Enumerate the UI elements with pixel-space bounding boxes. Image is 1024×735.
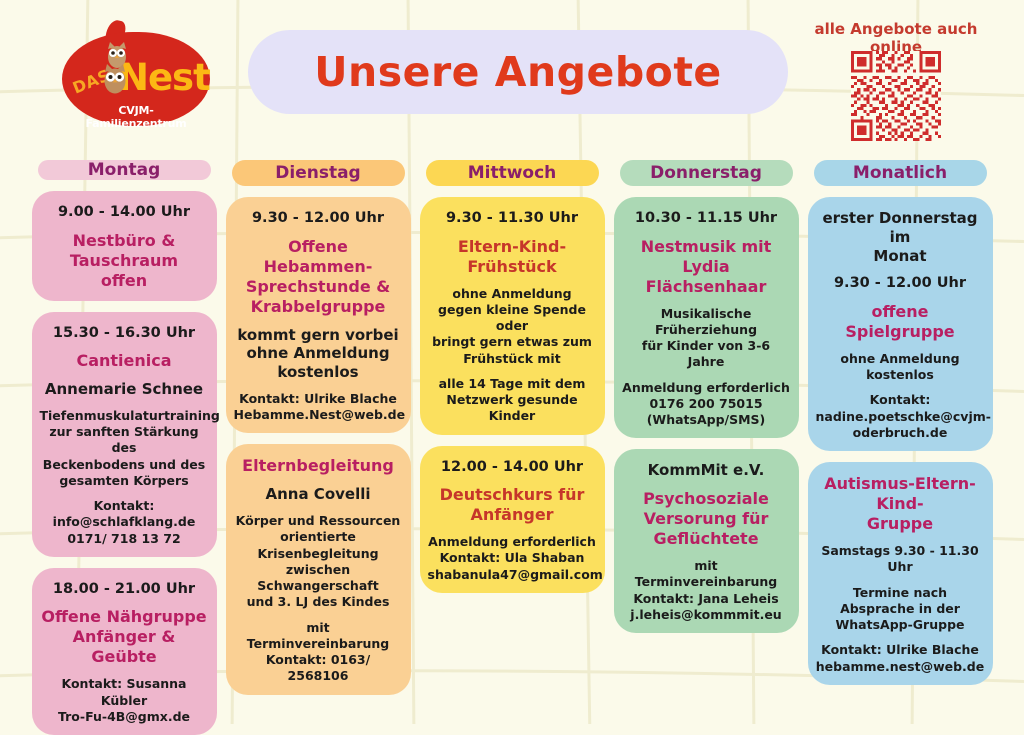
offer-text-group: Autismus-Eltern-Kind-Gruppe (816, 474, 985, 534)
offer-line-title: Gruppe (816, 514, 985, 534)
offer-line-title-red: Anfänger (428, 505, 597, 525)
offer-text-group: PsychosozialeVersorung fürGeflüchtete (622, 489, 791, 549)
offer-line-body: bringt gern etwas zum (428, 334, 597, 350)
offer-line-title-red: Deutschkurs für (428, 485, 597, 505)
offer-line-title-red: Frühstück (428, 257, 597, 277)
owl-icon (100, 62, 130, 96)
offer-line-title: offen (40, 271, 209, 291)
offer-line-name: Annemarie Schnee (40, 380, 209, 399)
offer-line-title: Nestmusik mit (622, 237, 791, 257)
offer-line-title: Lydia Flächsenhaar (622, 257, 791, 297)
offer-card[interactable]: Autismus-Eltern-Kind-GruppeSamstags 9.30… (808, 462, 993, 685)
offer-text-group: 15.30 - 16.30 Uhr (40, 324, 209, 343)
offer-line-time: 9.00 - 14.00 Uhr (40, 203, 209, 222)
offer-line-title: Cantienica (40, 351, 209, 371)
offer-line-body: Kontakt: Ulrike Blache (816, 642, 985, 658)
offer-text-group: mit TerminvereinbarungKontakt: Jana Lehe… (622, 558, 791, 623)
offer-line-title: Krabbelgruppe (234, 297, 403, 317)
offer-line-body: Anmeldung erforderlich (428, 534, 597, 550)
day-column-monatlich: Monatlicherster Donnerstag imMonat9.30 -… (808, 160, 993, 720)
offer-line-body: mit Terminvereinbarung (234, 620, 403, 653)
offer-line-body: gegen kleine Spende oder (428, 302, 597, 335)
offer-line-name: erster Donnerstag im (816, 209, 985, 247)
day-header-donnerstag: Donnerstag (620, 160, 793, 186)
offer-line-title: Anfänger & Geübte (40, 627, 209, 667)
offer-line-time: 9.30 - 12.00 Uhr (816, 274, 985, 293)
offer-text-group: Elternbegleitung (234, 456, 403, 476)
offer-line-title: Geflüchtete (622, 529, 791, 549)
offer-card[interactable]: 18.00 - 21.00 UhrOffene NähgruppeAnfänge… (32, 568, 217, 735)
offer-line-body: hebamme.nest@web.de (816, 659, 985, 675)
logo-subtitle: CVJM-Familienzentrum (70, 104, 202, 130)
offer-line-name: kostenlos (234, 363, 403, 382)
offer-line-body: Körper und Ressourcen (234, 513, 403, 529)
offer-text-group: kommt gern vorbeiohne Anmeldungkostenlos (234, 326, 403, 382)
offer-card[interactable]: 9.00 - 14.00 UhrNestbüro &Tauschraumoffe… (32, 191, 217, 301)
offer-line-body: Frühstück mit (428, 351, 597, 367)
offer-line-body: j.leheis@kommmit.eu (622, 607, 791, 623)
title-banner: Unsere Angebote (248, 30, 788, 114)
offer-line-body: Kontakt: Ula Shaban (428, 550, 597, 566)
offer-line-time: 12.00 - 14.00 Uhr (428, 458, 597, 477)
offer-text-group: Anmeldung erforderlich0176 200 75015(Wha… (622, 380, 791, 429)
offer-card[interactable]: 9.30 - 12.00 UhrOffene Hebammen-Sprechst… (226, 197, 411, 433)
offer-text-group: 10.30 - 11.15 Uhr (622, 209, 791, 228)
offer-text-group: Kontakt: Susanna KüblerTro-Fu-4B@gmx.de (40, 676, 209, 725)
offer-card[interactable]: ElternbegleitungAnna CovelliKörper und R… (226, 444, 411, 694)
offer-line-title-red: Eltern-Kind- (428, 237, 597, 257)
offer-line-title: Elternbegleitung (234, 456, 403, 476)
offer-line-body: für Kinder von 3-6 Jahre (622, 338, 791, 371)
offer-text-group: 9.30 - 11.30 Uhr (428, 209, 597, 228)
offer-line-body: Kontakt: (816, 392, 985, 408)
offer-card[interactable]: 10.30 - 11.15 UhrNestmusik mitLydia Fläc… (614, 197, 799, 438)
offer-line-body: Samstags 9.30 - 11.30 Uhr (816, 543, 985, 576)
qr-code[interactable] (851, 50, 941, 142)
offer-line-time: 9.30 - 12.00 Uhr (234, 209, 403, 228)
offer-text-group: Tiefenmuskulaturtrainingzur sanften Stär… (40, 408, 209, 489)
offer-line-body: Tro-Fu-4B@gmx.de (40, 709, 209, 725)
day-header-dienstag: Dienstag (232, 160, 405, 186)
offer-text-group: Körper und Ressourcenorientierte Krisenb… (234, 513, 403, 611)
offer-line-body: gesamten Körpers (40, 473, 209, 489)
offer-line-time: 18.00 - 21.00 Uhr (40, 580, 209, 599)
offer-line-body: nadine.poetschke@cvjm- (816, 409, 985, 425)
offer-line-body: mit Terminvereinbarung (622, 558, 791, 591)
offer-text-group: 12.00 - 14.00 Uhr (428, 458, 597, 477)
offer-line-name: Monat (816, 247, 985, 266)
offer-line-title: Nestbüro & (40, 231, 209, 251)
offer-text-group: Nestmusik mitLydia Flächsenhaar (622, 237, 791, 297)
offer-text-group: Offene Hebammen-Sprechstunde &Krabbelgru… (234, 237, 403, 317)
offer-line-title: Offene Nähgruppe (40, 607, 209, 627)
offer-text-group: Kontakt:nadine.poetschke@cvjm-oderbruch.… (816, 392, 985, 441)
offer-line-title: Psychosoziale (622, 489, 791, 509)
offer-line-title: Sprechstunde & (234, 277, 403, 297)
offer-text-group: 9.00 - 14.00 Uhr (40, 203, 209, 222)
logo: DAS Nest CVJM-Familienzentrum (62, 18, 210, 126)
offer-line-body: ohne Anmeldung (816, 351, 985, 367)
offer-line-title: Offene Hebammen- (234, 237, 403, 277)
offer-text-group: erster Donnerstag imMonat (816, 209, 985, 265)
offer-line-time: 10.30 - 11.15 Uhr (622, 209, 791, 228)
offer-card[interactable]: 9.30 - 11.30 UhrEltern-Kind-Frühstückohn… (420, 197, 605, 435)
offer-text-group: Musikalische Früherziehungfür Kinder von… (622, 306, 791, 371)
offer-line-time: 9.30 - 11.30 Uhr (428, 209, 597, 228)
offer-line-name: ohne Anmeldung (234, 344, 403, 363)
offer-text-group: 18.00 - 21.00 Uhr (40, 580, 209, 599)
offer-line-body: Kontakt: Jana Leheis (622, 591, 791, 607)
day-header-mittwoch: Mittwoch (426, 160, 599, 186)
offer-text-group: Anmeldung erforderlichKontakt: Ula Shaba… (428, 534, 597, 583)
offer-text-group: Kontakt:info@schlafklang.de0171/ 718 13 … (40, 498, 209, 547)
offer-line-body: Hebamme.Nest@web.de (234, 407, 403, 423)
offer-text-group: Kontakt: Ulrike Blachehebamme.nest@web.d… (816, 642, 985, 675)
offer-line-body: Tiefenmuskulaturtraining (40, 408, 209, 424)
offer-line-title: offene Spielgruppe (816, 302, 985, 342)
offer-line-title: Versorung für (622, 509, 791, 529)
offer-text-group: Offene NähgruppeAnfänger & Geübte (40, 607, 209, 667)
offer-line-body: zur sanften Stärkung des (40, 424, 209, 457)
page-title: Unsere Angebote (314, 48, 722, 96)
offer-text-group: Termine nach Absprache in derWhatsApp-Gr… (816, 585, 985, 634)
offer-line-body: Kontakt: Susanna Kübler (40, 676, 209, 709)
offer-text-group: ohne Anmeldungkostenlos (816, 351, 985, 384)
offer-text-group: KommMit e.V. (622, 461, 791, 480)
offer-text-group: 9.30 - 12.00 Uhr (234, 209, 403, 228)
offer-card[interactable]: 12.00 - 14.00 UhrDeutschkurs fürAnfänger… (420, 446, 605, 593)
offer-line-title: Tauschraum (40, 251, 209, 271)
offer-text-group: Kontakt: Ulrike BlacheHebamme.Nest@web.d… (234, 391, 403, 424)
offer-text-group: Cantienica (40, 351, 209, 371)
offer-line-name: Anna Covelli (234, 485, 403, 504)
offer-line-body: alle 14 Tage mit dem (428, 376, 597, 392)
offer-line-body: 0171/ 718 13 72 (40, 531, 209, 547)
offer-text-group: alle 14 Tage mit demNetzwerk gesunde Kin… (428, 376, 597, 425)
offer-line-body: und 3. LJ des Kindes (234, 594, 403, 610)
offer-text-group: Eltern-Kind-Frühstück (428, 237, 597, 277)
offer-line-body: Kontakt: Ulrike Blache (234, 391, 403, 407)
offer-line-body: shabanula47@gmail.com (428, 567, 597, 583)
offer-text-group: Samstags 9.30 - 11.30 Uhr (816, 543, 985, 576)
offer-line-name: kommt gern vorbei (234, 326, 403, 345)
offer-text-group: offene Spielgruppe (816, 302, 985, 342)
schedule-columns: Montag9.00 - 14.00 UhrNestbüro &Tauschra… (0, 160, 1024, 720)
offer-text-group: ohne Anmeldunggegen kleine Spende oderbr… (428, 286, 597, 367)
offer-line-body: Musikalische Früherziehung (622, 306, 791, 339)
offer-card[interactable]: 15.30 - 16.30 UhrCantienicaAnnemarie Sch… (32, 312, 217, 557)
offer-line-time: 15.30 - 16.30 Uhr (40, 324, 209, 343)
offer-text-group: Nestbüro &Tauschraumoffen (40, 231, 209, 291)
offer-line-body: Kontakt: (40, 498, 209, 514)
offer-line-body: Beckenbodens und des (40, 457, 209, 473)
offer-line-body: Netzwerk gesunde Kinder (428, 392, 597, 425)
offer-line-body: kostenlos (816, 367, 985, 383)
offer-line-name: KommMit e.V. (622, 461, 791, 480)
offer-text-group: Annemarie Schnee (40, 380, 209, 399)
offer-text-group: 9.30 - 12.00 Uhr (816, 274, 985, 293)
offer-line-title: Autismus-Eltern-Kind- (816, 474, 985, 514)
logo-nest-text: Nest (118, 56, 210, 99)
offer-line-body: WhatsApp-Gruppe (816, 617, 985, 633)
offer-line-body: 0176 200 75015 (622, 396, 791, 412)
day-column-montag: Montag9.00 - 14.00 UhrNestbüro &Tauschra… (32, 160, 217, 720)
offer-line-body: zwischen Schwangerschaft (234, 562, 403, 595)
offer-text-group: Anna Covelli (234, 485, 403, 504)
day-header-monatlich: Monatlich (814, 160, 987, 186)
offer-line-body: orientierte Krisenbegleitung (234, 529, 403, 562)
offer-line-body: ohne Anmeldung (428, 286, 597, 302)
day-column-dienstag: Dienstag9.30 - 12.00 UhrOffene Hebammen-… (226, 160, 411, 720)
offer-text-group: mit TerminvereinbarungKontakt: 0163/ 256… (234, 620, 403, 685)
offer-line-body: info@schlafklang.de (40, 514, 209, 530)
day-column-donnerstag: Donnerstag10.30 - 11.15 UhrNestmusik mit… (614, 160, 799, 720)
offer-card[interactable]: KommMit e.V.PsychosozialeVersorung fürGe… (614, 449, 799, 633)
offer-text-group: Deutschkurs fürAnfänger (428, 485, 597, 525)
offer-line-body: (WhatsApp/SMS) (622, 412, 791, 428)
poster-page: DAS Nest CVJM-Familienzentrum Unsere Ang… (0, 0, 1024, 724)
offer-line-body: oderbruch.de (816, 425, 985, 441)
day-column-mittwoch: Mittwoch9.30 - 11.30 UhrEltern-Kind-Früh… (420, 160, 605, 720)
offer-card[interactable]: erster Donnerstag imMonat9.30 - 12.00 Uh… (808, 197, 993, 451)
offer-line-body: Anmeldung erforderlich (622, 380, 791, 396)
day-header-montag: Montag (38, 160, 211, 180)
offer-line-body: Kontakt: 0163/ 2568106 (234, 652, 403, 685)
offer-line-body: Termine nach Absprache in der (816, 585, 985, 618)
